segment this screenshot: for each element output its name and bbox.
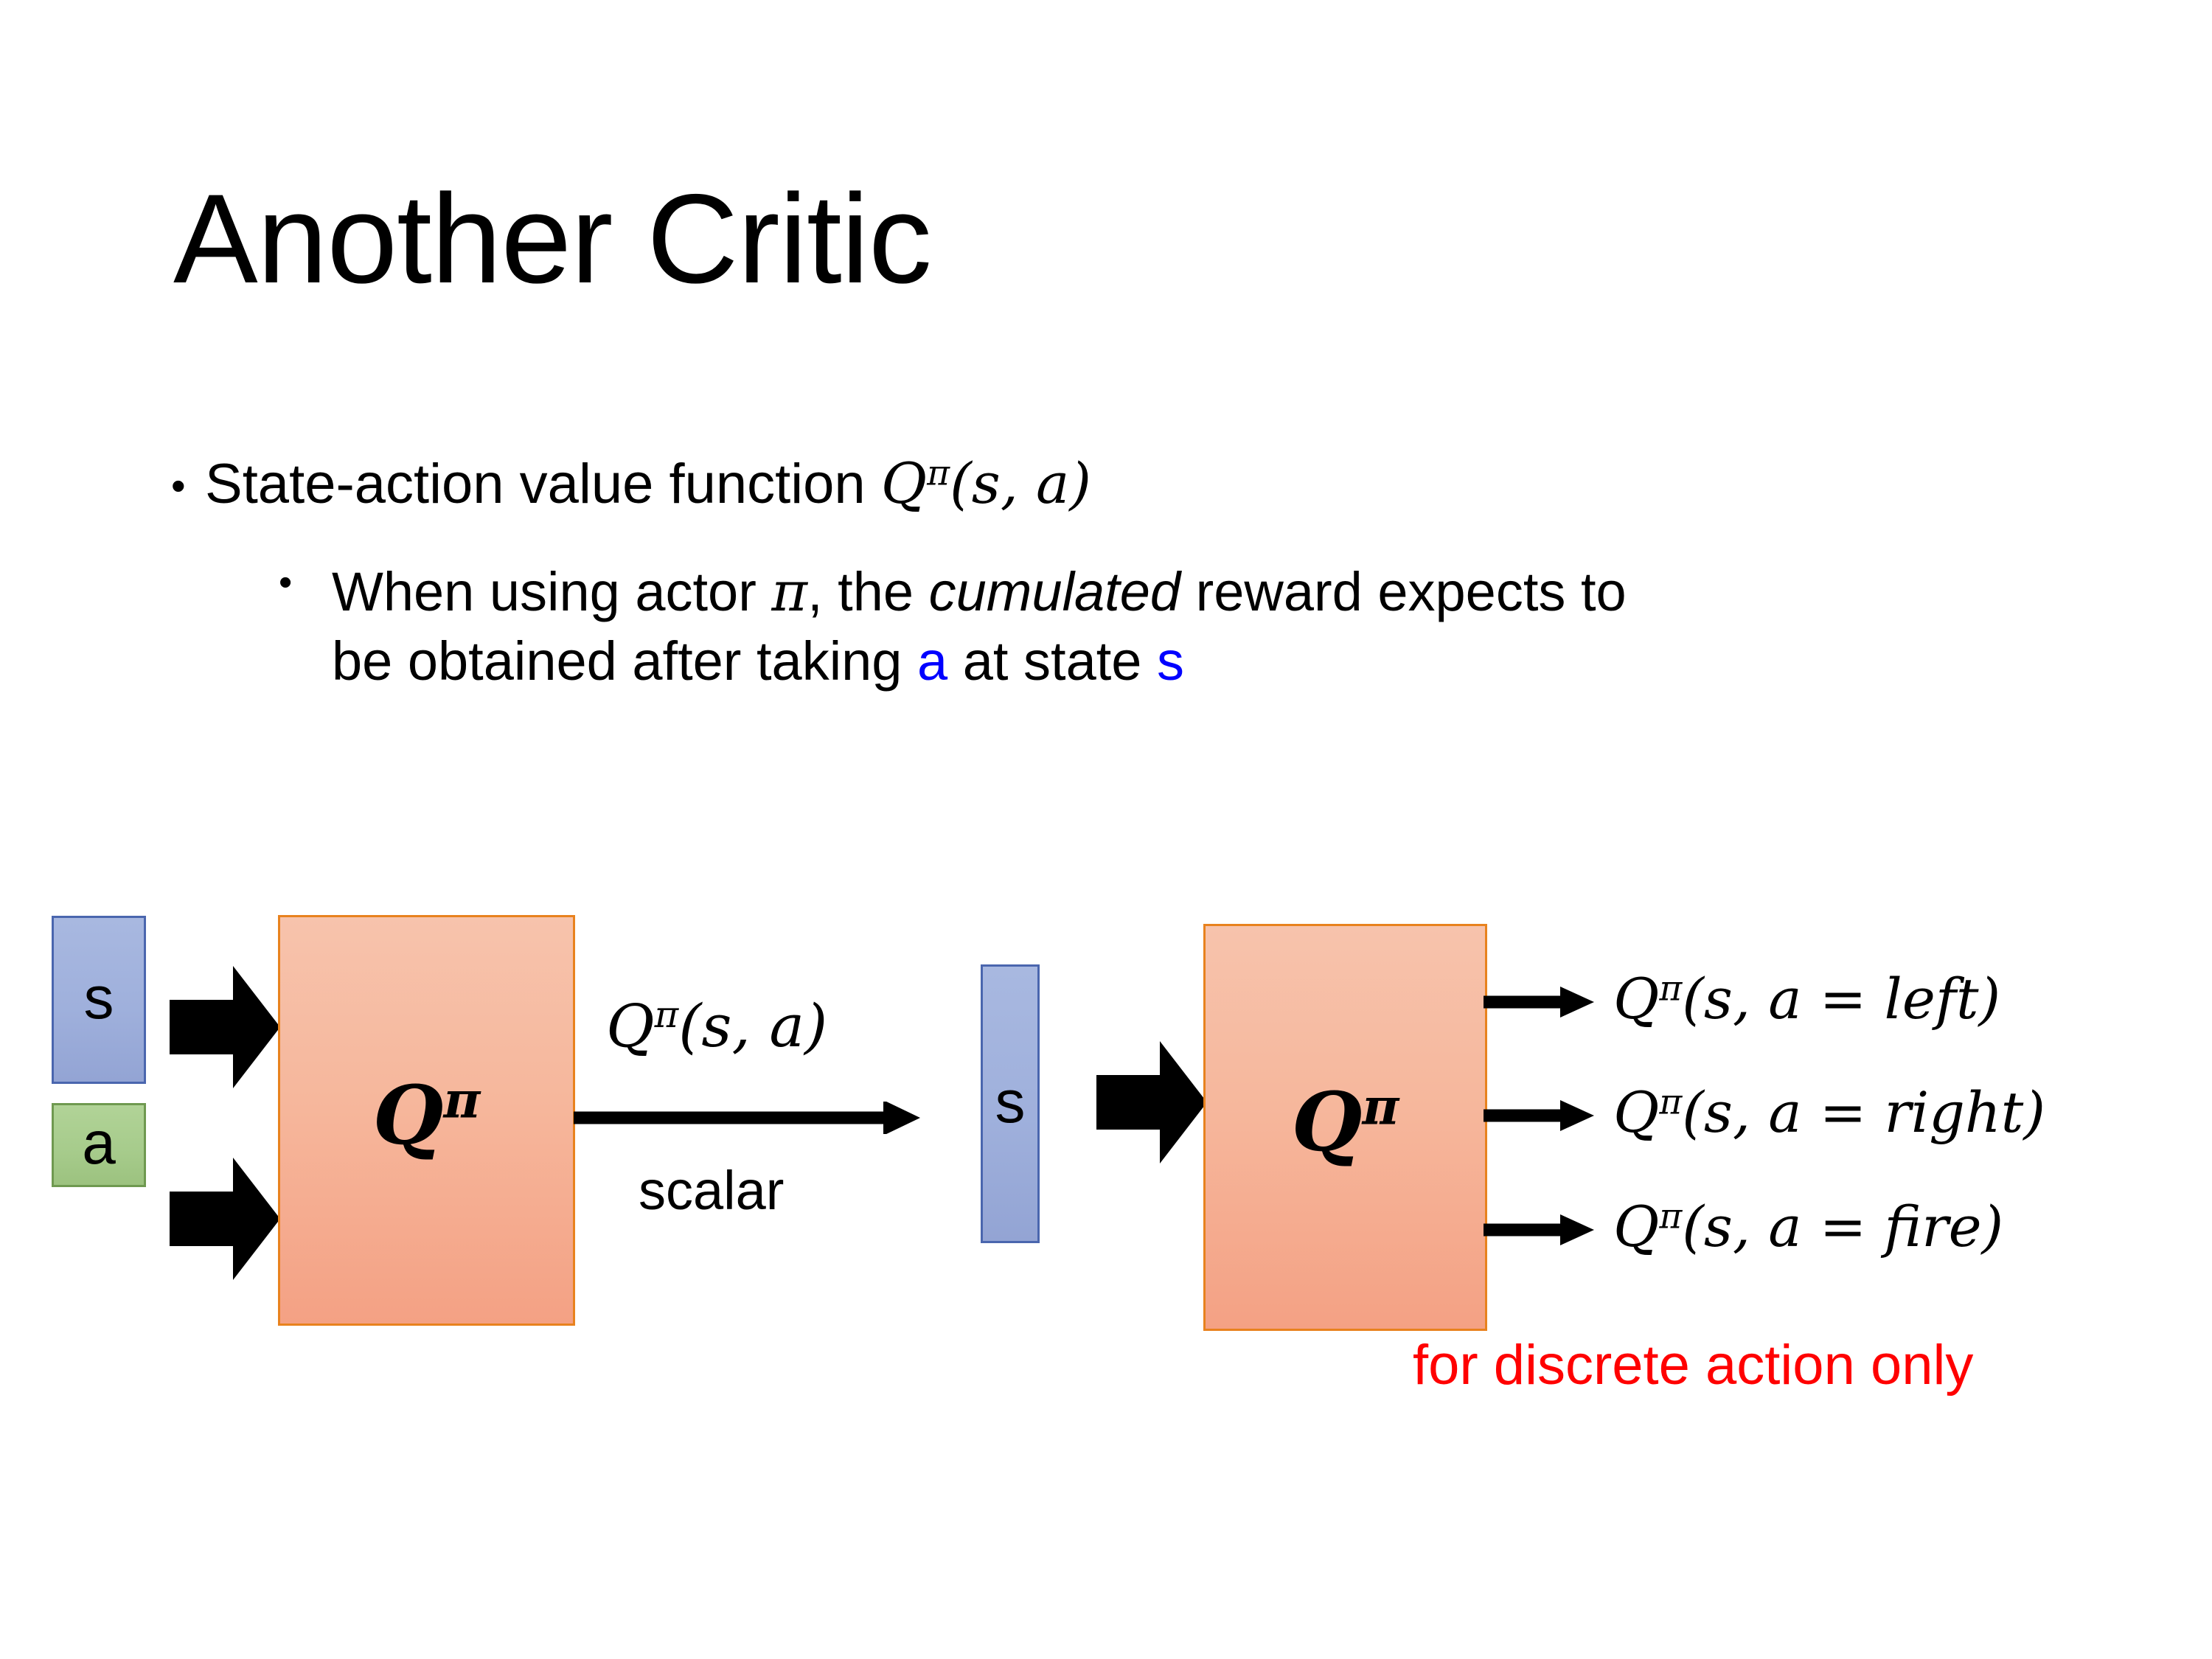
left-input-state-box: s — [52, 916, 146, 1084]
left-network-box: Qπ — [278, 915, 575, 1326]
right-output-formula-1-args: (s, a = left) — [1682, 966, 2000, 1032]
bullet-level2-line1-c: reward expects to — [1180, 561, 1627, 622]
bullet-marker-level1: • — [171, 462, 205, 509]
right-output-arrow-2-icon — [1484, 1100, 1594, 1131]
bullet-level2-pi: π — [771, 560, 807, 624]
formula-pi-superscript: π — [927, 453, 950, 494]
right-output-formula-2: Qπ(s, a = right) — [1613, 1079, 2045, 1145]
right-output-formula-2-pi: π — [1659, 1082, 1682, 1123]
right-output-formula-2-q: Q — [1613, 1079, 1659, 1145]
left-input-action-label: a — [54, 1109, 144, 1178]
slide-canvas: Another Critic •State-action value funct… — [0, 0, 2212, 1659]
left-output-formula-args: (s, a) — [678, 992, 827, 1060]
right-output-arrow-1-icon — [1484, 987, 1594, 1018]
left-output-arrow-icon — [574, 1102, 920, 1134]
left-output-formula-pi: π — [655, 993, 679, 1036]
left-output-formula: Qπ(s, a) — [606, 992, 827, 1060]
formula-args: (s, a) — [950, 451, 1091, 516]
right-state-block-arrow-icon — [1096, 1041, 1207, 1164]
right-network-label: Qπ — [1206, 1074, 1485, 1169]
left-network-label-q: Q — [373, 1067, 444, 1162]
right-output-formula-3-pi: π — [1659, 1197, 1682, 1237]
bullet-level1: •State-action value function Qπ(s, a) — [171, 451, 1091, 516]
right-output-formula-3-args: (s, a = fire) — [1682, 1194, 2003, 1259]
bullet-marker-level2: • — [279, 559, 292, 608]
right-output-formula-1-q: Q — [1613, 966, 1659, 1032]
left-output-caption: scalar — [639, 1159, 784, 1222]
left-network-label-pi: π — [443, 1071, 480, 1130]
right-output-formula-3-q: Q — [1613, 1194, 1659, 1259]
right-network-label-pi: π — [1362, 1077, 1399, 1136]
formula-q: Q — [881, 451, 927, 516]
bullet-level2-line1-b: , the — [807, 561, 929, 622]
bullet-level2-line2-a: be obtained after taking — [332, 630, 917, 692]
right-output-formula-1: Qπ(s, a = left) — [1613, 966, 2000, 1032]
bullet-level2: • When using actor π, the cumulated rewa… — [279, 557, 1989, 695]
right-input-state-label: s — [983, 1068, 1037, 1137]
right-output-formula-3: Qπ(s, a = fire) — [1613, 1194, 2003, 1259]
left-action-block-arrow-icon — [170, 1158, 280, 1280]
bullet-level2-cumulated: cumulated — [929, 561, 1180, 622]
bullet-level1-text: State-action value function — [205, 453, 881, 515]
bullet-level2-text: When using actor π, the cumulated reward… — [332, 557, 1989, 695]
bullet-level2-line2-b: at state — [947, 630, 1157, 692]
right-output-formula-1-pi: π — [1659, 969, 1682, 1009]
left-output-formula-q: Q — [606, 992, 655, 1060]
right-output-arrow-3-icon — [1484, 1214, 1594, 1245]
left-network-label: Qπ — [280, 1067, 573, 1162]
right-network-label-q: Q — [1292, 1074, 1363, 1169]
page-title: Another Critic — [173, 175, 931, 302]
discrete-action-note: for discrete action only — [1413, 1333, 1973, 1397]
left-state-block-arrow-icon — [170, 966, 280, 1088]
bullet-level2-action-highlight: a — [917, 630, 947, 692]
bullet-level2-line1-a: When using actor — [332, 561, 771, 622]
bullet-level1-formula: Qπ(s, a) — [881, 451, 1091, 516]
left-input-state-label: s — [54, 964, 144, 1033]
right-input-state-box: s — [981, 964, 1040, 1243]
bullet-level2-state-highlight: s — [1157, 630, 1184, 692]
right-output-formula-2-args: (s, a = right) — [1682, 1079, 2045, 1145]
left-input-action-box: a — [52, 1103, 146, 1187]
right-network-box: Qπ — [1203, 924, 1487, 1331]
